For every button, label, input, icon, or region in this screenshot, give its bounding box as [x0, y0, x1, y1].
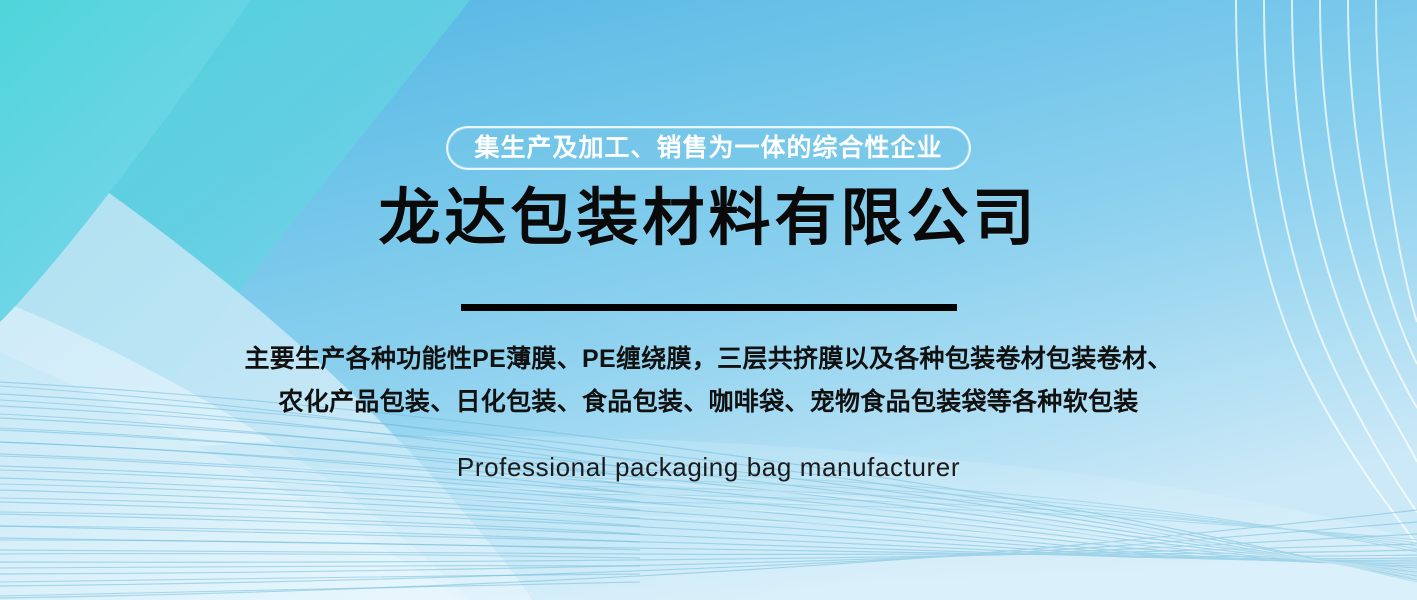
tagline-badge: 集生产及加工、销售为一体的综合性企业 — [446, 126, 970, 170]
company-title: 龙达包装材料有限公司 — [378, 184, 1038, 253]
description-line-2: 农化产品包装、日化包装、食品包装、咖啡袋、宠物食品包装袋等各种软包装 — [244, 381, 1172, 425]
company-description: 主要生产各种功能性PE薄膜、PE缠绕膜，三层共挤膜以及各种包装卷材包装卷材、 农… — [244, 338, 1172, 425]
banner-content: 集生产及加工、销售为一体的综合性企业 龙达包装材料有限公司 主要生产各种功能性P… — [0, 0, 1417, 600]
title-underline-rule — [461, 304, 957, 311]
english-tagline: Professional packaging bag manufacturer — [457, 452, 960, 483]
description-line-1: 主要生产各种功能性PE薄膜、PE缠绕膜，三层共挤膜以及各种包装卷材包装卷材、 — [244, 338, 1172, 382]
tagline-badge-text: 集生产及加工、销售为一体的综合性企业 — [474, 136, 942, 161]
promo-banner: 集生产及加工、销售为一体的综合性企业 龙达包装材料有限公司 主要生产各种功能性P… — [0, 0, 1417, 600]
